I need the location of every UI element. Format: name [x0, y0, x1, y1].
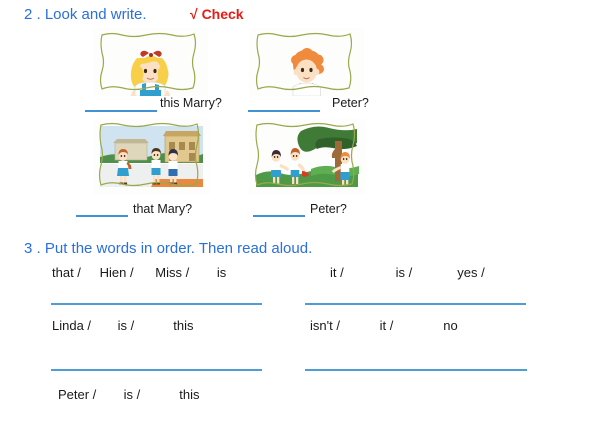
exercise-2-heading: 2 . Look and write. [24, 6, 147, 23]
check-label: √ Check [190, 6, 244, 22]
word-chip: it / [330, 265, 392, 280]
picture-boy-illustration [249, 28, 364, 96]
answer-line-2-right[interactable] [305, 369, 527, 371]
answer-line-1-right[interactable] [305, 303, 526, 305]
picture-label-2: Peter? [332, 96, 369, 110]
word-chip: Peter / [58, 387, 120, 402]
picture-label-4: Peter? [310, 202, 347, 216]
word-row-2-left: Linda / is / this [52, 318, 193, 333]
word-row-1-left: that / Hien / Miss / is [52, 265, 226, 280]
picture-schoolyard-illustration [93, 119, 210, 194]
picture-schoolyard-children [93, 119, 210, 194]
blank-line-3[interactable] [76, 215, 128, 217]
word-chip: is / [396, 265, 454, 280]
word-chip: it / [380, 318, 440, 333]
word-chip: that / [52, 265, 96, 280]
picture-tree-illustration [249, 119, 366, 194]
blank-line-2[interactable] [248, 110, 320, 112]
picture-girl-illustration [93, 28, 208, 96]
blank-line-4[interactable] [253, 215, 305, 217]
picture-boy-orange-hair [249, 28, 364, 96]
word-chip: no [443, 318, 457, 333]
word-chip: Hien / [100, 265, 152, 280]
word-chip: Linda / [52, 318, 114, 333]
word-chip: is / [124, 387, 176, 402]
word-chip: isn't / [310, 318, 376, 333]
answer-line-2-left[interactable] [51, 369, 262, 371]
picture-children-under-tree [249, 119, 366, 194]
word-row-2-right: isn't / it / no [310, 318, 458, 333]
word-chip: is / [118, 318, 170, 333]
blank-line-1[interactable] [85, 110, 157, 112]
answer-line-1-left[interactable] [51, 303, 262, 305]
word-row-1-right: it / is / yes / [330, 265, 485, 280]
exercise-3-heading: 3 . Put the words in order. Then read al… [24, 240, 312, 257]
word-chip: Miss / [155, 265, 213, 280]
word-chip: yes / [457, 265, 484, 280]
word-row-3-left: Peter / is / this [58, 387, 199, 402]
picture-label-3: that Mary? [133, 202, 192, 216]
picture-label-1: this Marry? [160, 96, 222, 110]
word-chip: this [179, 387, 199, 402]
picture-girl-blonde-overalls [93, 28, 208, 96]
word-chip: is [217, 265, 226, 280]
word-chip: this [173, 318, 193, 333]
